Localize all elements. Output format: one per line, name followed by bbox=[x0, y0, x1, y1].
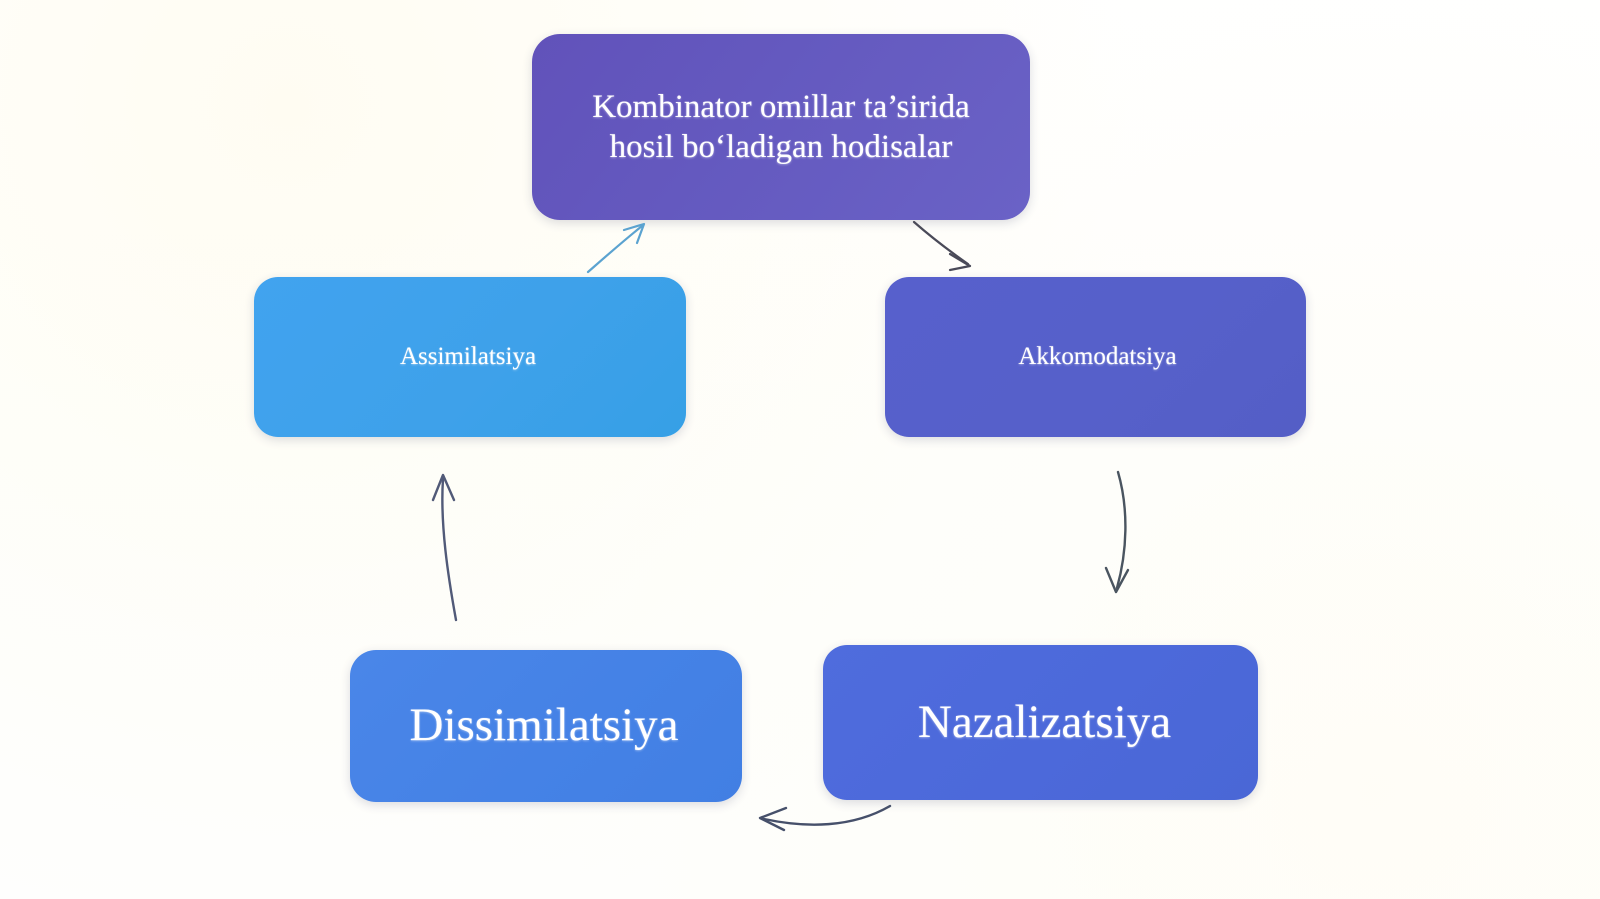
arrow-root-to-accommodation bbox=[914, 222, 970, 270]
diagram-canvas: Kombinator omillar ta’sirida hosil bo‘la… bbox=[0, 0, 1600, 899]
node-dissimilation-label: Dissimilatsiya bbox=[392, 697, 697, 754]
arrow-dissimilation-to-assimilation bbox=[433, 475, 456, 620]
node-assimilation-label: Assimilatsiya bbox=[382, 342, 554, 373]
node-root[interactable]: Kombinator omillar ta’sirida hosil bo‘la… bbox=[532, 34, 1030, 220]
node-accommodation-label: Akkomodatsiya bbox=[1000, 342, 1194, 373]
arrow-assimilation-to-root bbox=[588, 224, 644, 272]
node-accommodation[interactable]: Akkomodatsiya bbox=[885, 277, 1306, 437]
node-root-label: Kombinator omillar ta’sirida hosil bo‘la… bbox=[574, 87, 988, 168]
node-assimilation[interactable]: Assimilatsiya bbox=[254, 277, 686, 437]
arrow-nasalization-to-dissimilation bbox=[760, 806, 890, 830]
node-nasalization-label: Nazalizatsiya bbox=[900, 694, 1189, 751]
node-dissimilation[interactable]: Dissimilatsiya bbox=[350, 650, 742, 802]
node-nasalization[interactable]: Nazalizatsiya bbox=[823, 645, 1258, 800]
arrow-accommodation-to-nasalization bbox=[1106, 472, 1128, 592]
